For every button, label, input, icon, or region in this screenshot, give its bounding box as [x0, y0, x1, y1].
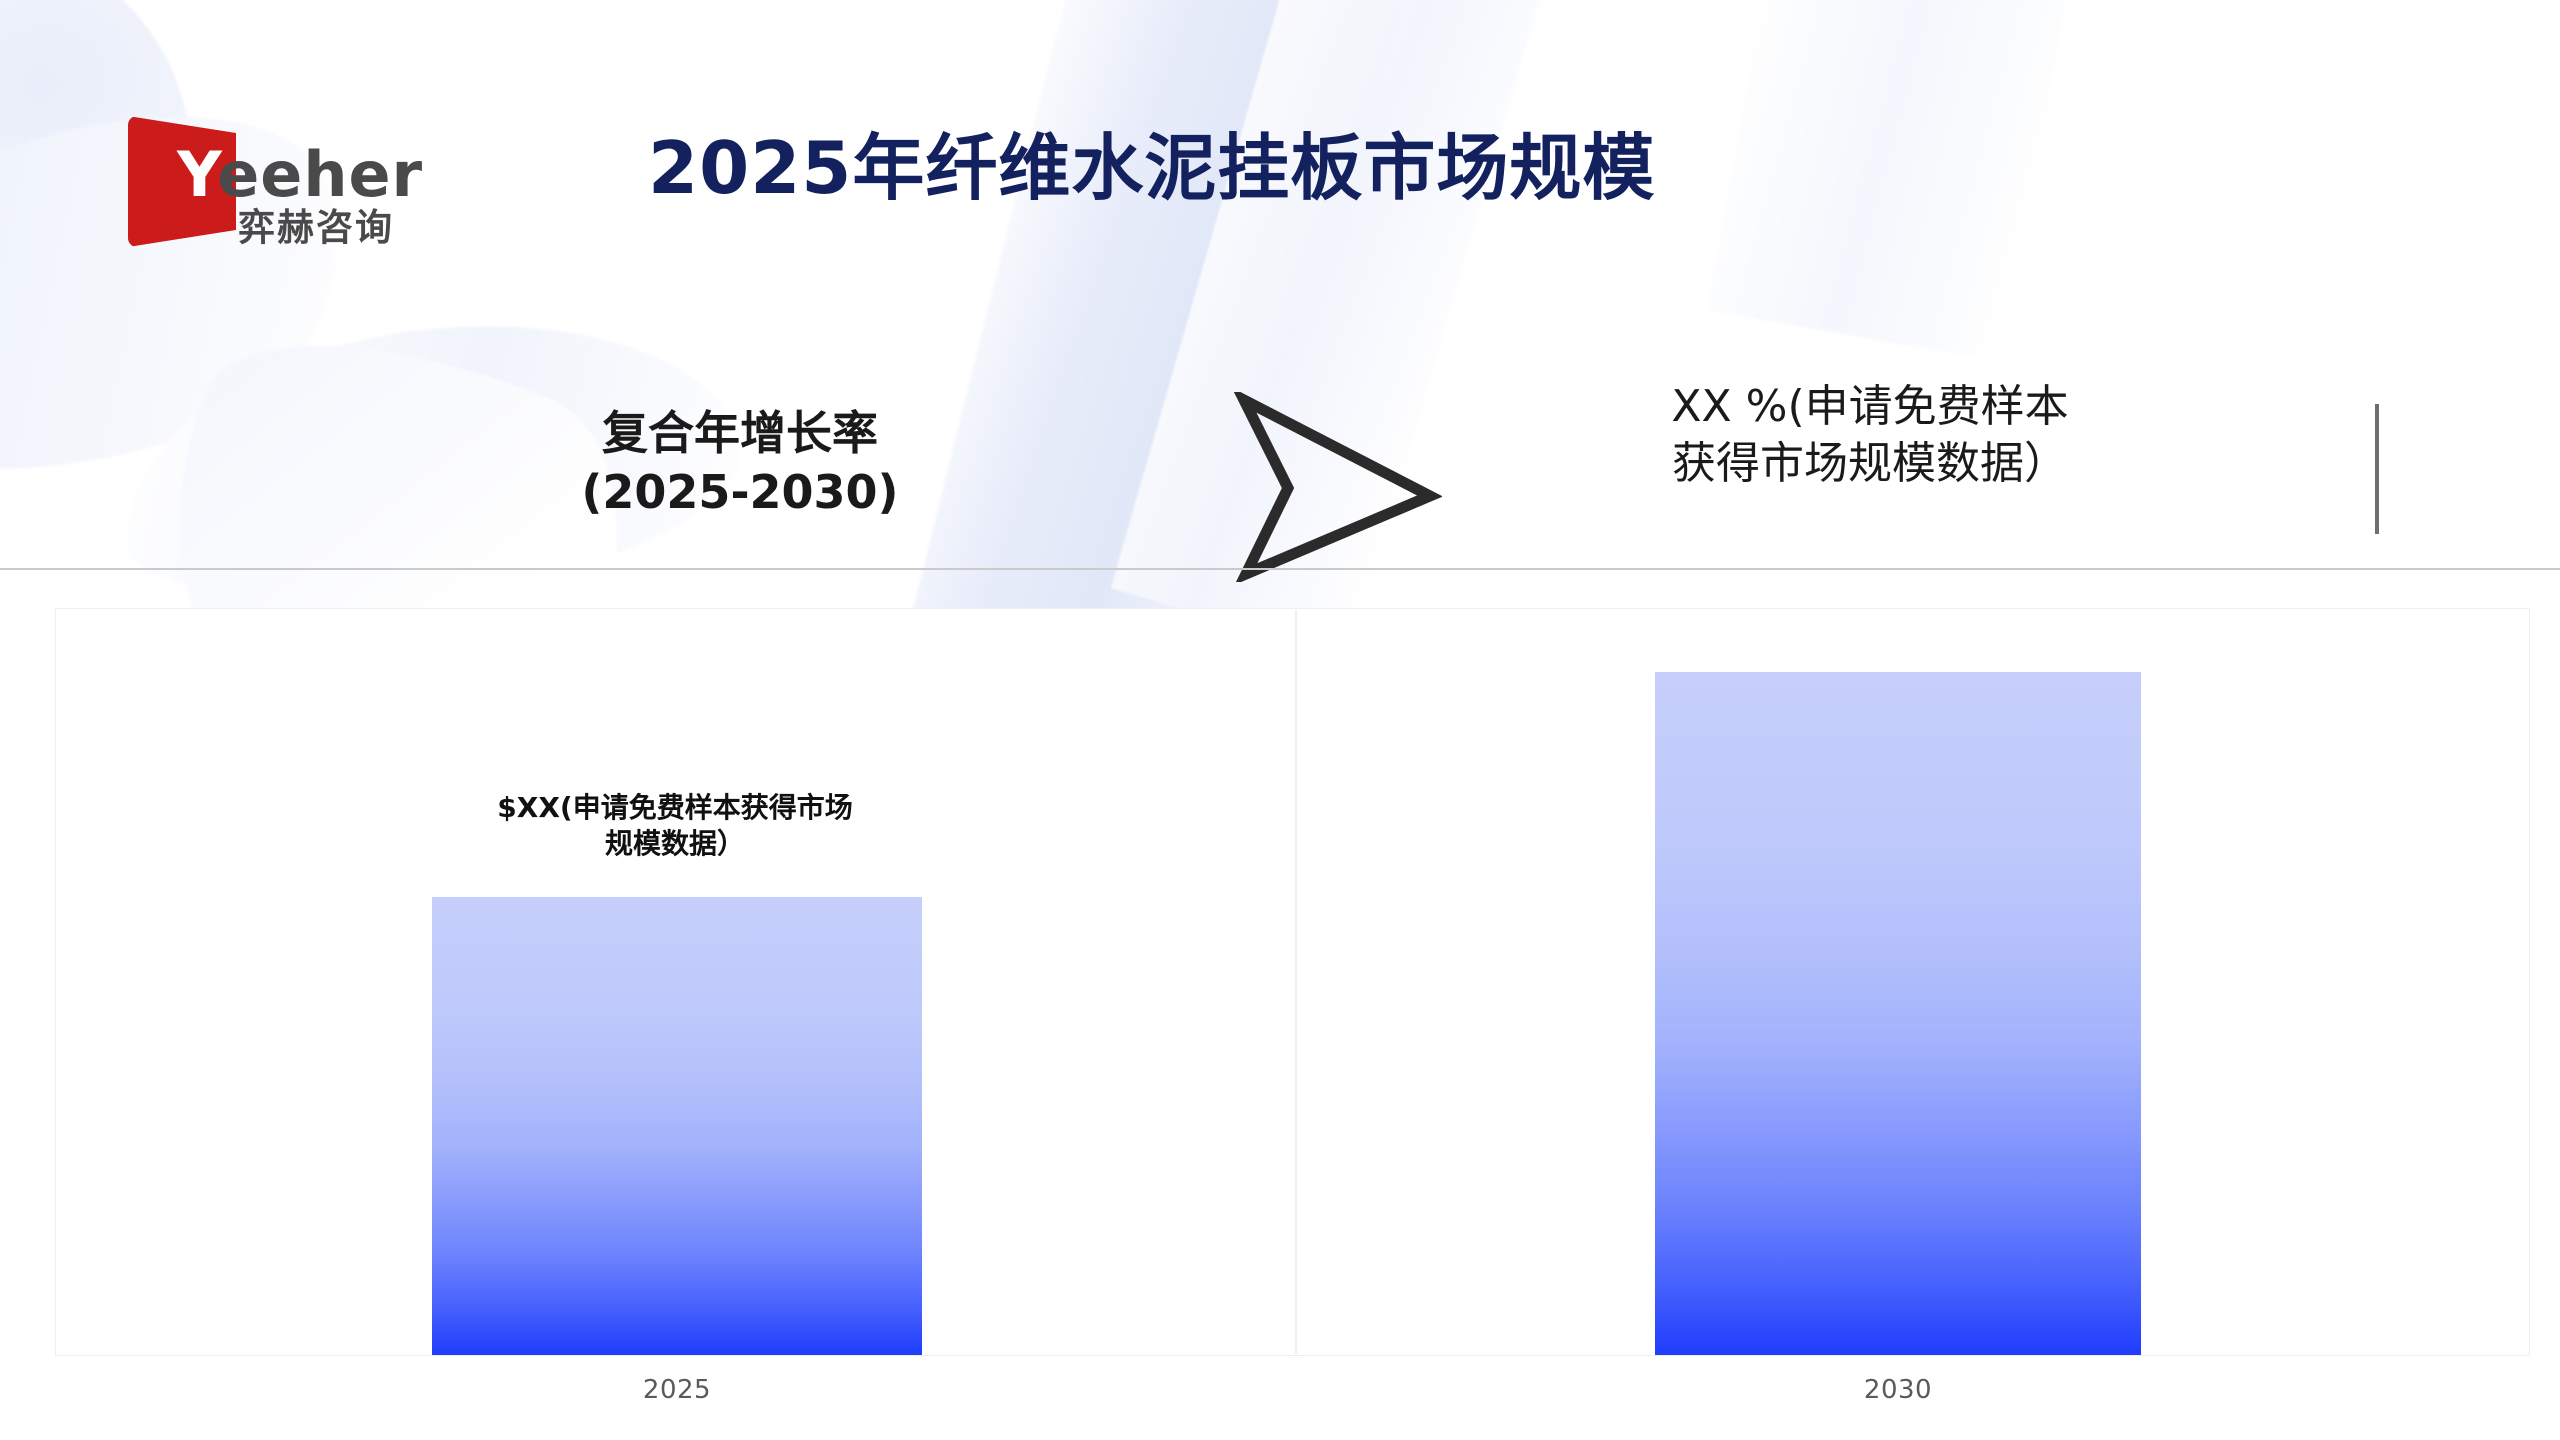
axis-tick-2025: 2025 — [527, 1375, 827, 1405]
cagr-value-line2: 获得市场规模数据） — [1610, 435, 2130, 492]
axis-tick-2030: 2030 — [1748, 1375, 2048, 1405]
logo-subtitle: 弈赫咨询 — [238, 209, 394, 246]
bar-2025-data-label: $XX(申请免费样本获得市场 规模数据） — [425, 790, 925, 863]
cagr-value-line1: XX %(申请免费样本 — [1610, 378, 2130, 435]
cagr-label-line1: 复合年增长率 — [540, 404, 940, 463]
slide-canvas: Yeeher 弈赫咨询 2025年纤维水泥挂板市场规模 复合年增长率 (2025… — [0, 0, 2560, 1440]
logo-wordmark-rest: eeher — [217, 138, 423, 211]
bar-2025[interactable] — [432, 897, 922, 1355]
kpi-vertical-divider — [2375, 404, 2379, 534]
cagr-value: XX %(申请免费样本 获得市场规模数据） — [1610, 378, 2130, 492]
cagr-label: 复合年增长率 (2025-2030) — [540, 404, 940, 522]
bar-2030[interactable] — [1655, 672, 2141, 1355]
arrow-right-outline-icon — [1232, 392, 1442, 582]
cagr-label-line2: (2025-2030) — [540, 463, 940, 522]
background-swoosh-right — [1707, 0, 2093, 362]
chart-panel-divider — [1295, 610, 1297, 1354]
logo-wordmark: Yeeher — [177, 144, 423, 206]
bar-2025-data-label-line1: $XX(申请免费样本获得市场 — [425, 790, 925, 826]
page-title: 2025年纤维水泥挂板市场规模 — [648, 132, 1655, 204]
brand-logo[interactable]: Yeeher 弈赫咨询 — [128, 108, 488, 258]
logo-lead-letter: Y — [177, 138, 217, 211]
bar-chart — [55, 608, 2530, 1356]
bar-2025-data-label-line2: 规模数据） — [425, 826, 925, 862]
section-horizontal-divider — [0, 568, 2560, 570]
